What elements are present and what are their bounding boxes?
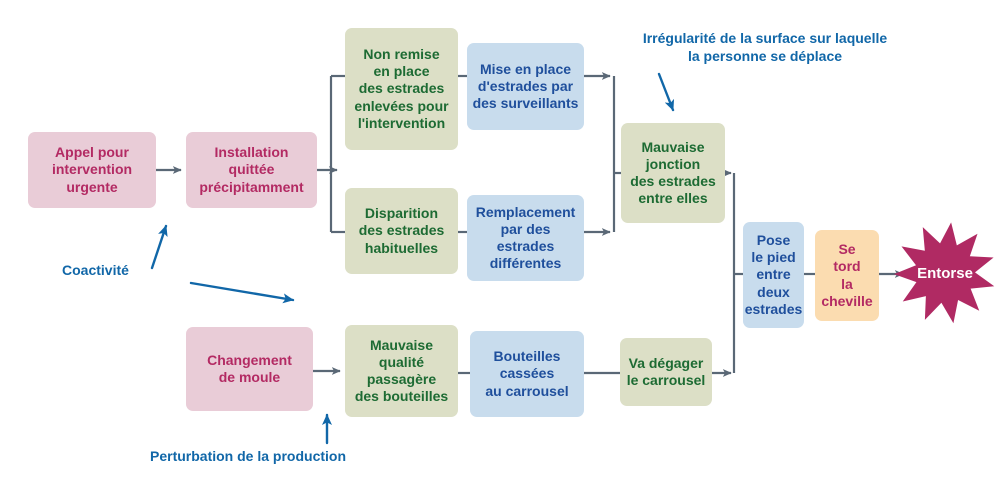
- node-non-remise-en-place-des-estrades[interactable]: Non remise en place des estrades enlevée…: [345, 28, 458, 150]
- node-pose-le-pied-entre-deux-estrades[interactable]: Pose le pied entre deux estrades: [743, 222, 804, 328]
- annotation-arrow-coactivite-lower: [191, 283, 293, 300]
- flowchart-canvas: Appel pour intervention urgente Installa…: [0, 0, 1000, 489]
- node-disparition-des-estrades-habituelles[interactable]: Disparition des estrades habituelles: [345, 188, 458, 274]
- node-changement-de-moule[interactable]: Changement de moule: [186, 327, 313, 411]
- node-appel-pour-intervention-urgente[interactable]: Appel pour intervention urgente: [28, 132, 156, 208]
- annotation-perturbation-production: Perturbation de la production: [150, 448, 450, 466]
- annotation-coactivite: Coactivité: [62, 262, 202, 280]
- node-mauvaise-jonction-des-estrades[interactable]: Mauvaise jonction des estrades entre ell…: [621, 123, 725, 223]
- node-mauvaise-qualite-passagere-bouteilles[interactable]: Mauvaise qualité passagère des bouteille…: [345, 325, 458, 417]
- node-remplacement-estrades-differentes[interactable]: Remplacement par des estrades différente…: [467, 195, 584, 281]
- node-va-degager-le-carrousel[interactable]: Va dégager le carrousel: [620, 338, 712, 406]
- annotation-arrow-irregularite: [659, 74, 673, 110]
- annotation-irregularite-surface: Irrégularité de la surface sur laquelle …: [620, 30, 910, 65]
- node-mise-en-place-estrades-surveillants[interactable]: Mise en place d'estrades par des surveil…: [467, 43, 584, 130]
- outcome-entorse-label: Entorse: [893, 221, 997, 325]
- node-installation-quittee-precipitamment[interactable]: Installation quittée précipitamment: [186, 132, 317, 208]
- node-bouteilles-cassees-au-carrousel[interactable]: Bouteilles cassées au carrousel: [470, 331, 584, 417]
- outcome-entorse-star[interactable]: Entorse: [893, 221, 997, 325]
- node-se-tord-la-cheville[interactable]: Se tord la cheville: [815, 230, 879, 321]
